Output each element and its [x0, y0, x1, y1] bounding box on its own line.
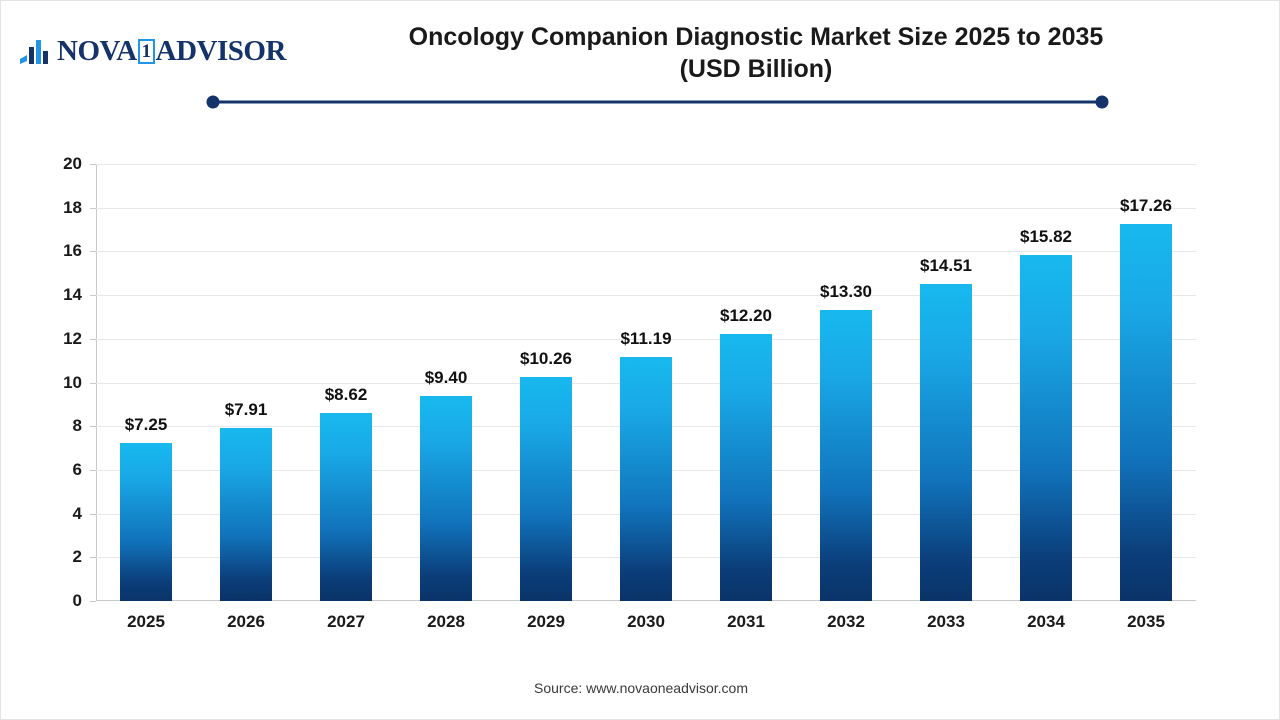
bar-group[interactable]: $17.262035	[1096, 164, 1196, 601]
bar-value-label: $13.30	[820, 282, 872, 302]
y-axis-tick-mark	[90, 601, 96, 602]
bar-value-label: $11.19	[620, 329, 671, 349]
x-axis-tick-label: 2033	[927, 612, 965, 632]
y-axis-tick-label: 18	[42, 198, 82, 218]
y-axis-tick-label: 12	[42, 329, 82, 349]
x-axis-tick-label: 2028	[427, 612, 465, 632]
y-axis-tick-label: 20	[42, 154, 82, 174]
bar-group[interactable]: $15.822034	[996, 164, 1096, 601]
y-axis-tick-label: 2	[42, 547, 82, 567]
x-axis-tick-label: 2025	[127, 612, 165, 632]
source-caption: Source: www.novaoneadvisor.com	[1, 680, 1280, 696]
bar[interactable]	[220, 428, 272, 601]
chart-title-line1: Oncology Companion Diagnostic Market Siz…	[409, 23, 1104, 51]
chart-title: Oncology Companion Diagnostic Market Siz…	[241, 21, 1271, 85]
x-axis-tick-label: 2035	[1127, 612, 1165, 632]
bar[interactable]	[1120, 224, 1172, 601]
bar-value-label: $17.26	[1120, 196, 1172, 216]
bar-value-label: $8.62	[325, 385, 368, 405]
bar[interactable]	[620, 357, 672, 602]
bar-group[interactable]: $8.622027	[296, 164, 396, 601]
bar-value-label: $9.40	[425, 368, 468, 388]
title-underline-rule	[206, 95, 1109, 109]
x-axis-tick-label: 2030	[627, 612, 665, 632]
y-axis-tick-label: 0	[42, 591, 82, 611]
y-axis-tick-label: 6	[42, 460, 82, 480]
bar[interactable]	[920, 284, 972, 601]
x-axis-tick-label: 2029	[527, 612, 565, 632]
bar[interactable]	[120, 443, 172, 601]
chart-title-line2: (USD Billion)	[241, 53, 1271, 85]
x-axis-tick-label: 2034	[1027, 612, 1065, 632]
y-axis-tick-label: 8	[42, 416, 82, 436]
y-axis-tick-label: 16	[42, 241, 82, 261]
bar-group[interactable]: $7.252025	[96, 164, 196, 601]
x-axis-tick-label: 2026	[227, 612, 265, 632]
bar[interactable]	[520, 377, 572, 601]
bar-value-label: $7.91	[225, 400, 268, 420]
bar-group[interactable]: $7.912026	[196, 164, 296, 601]
bar-group[interactable]: $9.402028	[396, 164, 496, 601]
bar[interactable]	[820, 310, 872, 601]
bar[interactable]	[720, 334, 772, 601]
y-axis-tick-label: 10	[42, 373, 82, 393]
bar-group[interactable]: $10.262029	[496, 164, 596, 601]
bar-value-label: $7.25	[125, 415, 168, 435]
bar-group[interactable]: $14.512033	[896, 164, 996, 601]
chart-page: NOVA1ADVISOR Oncology Companion Diagnost…	[0, 0, 1280, 720]
bar-value-label: $14.51	[920, 256, 972, 276]
bar[interactable]	[420, 396, 472, 601]
bar[interactable]	[320, 413, 372, 601]
plot-area: 02468101214161820 $7.252025$7.912026$8.6…	[96, 164, 1196, 601]
x-axis-tick-label: 2031	[727, 612, 765, 632]
bar-group[interactable]: $11.192030	[596, 164, 696, 601]
bar[interactable]	[1020, 255, 1072, 601]
y-axis-tick-label: 4	[42, 504, 82, 524]
x-axis-tick-label: 2027	[327, 612, 365, 632]
bar-chart-logo-icon	[19, 37, 53, 67]
x-axis-tick-label: 2032	[827, 612, 865, 632]
bar-value-label: $12.20	[720, 306, 772, 326]
bar-group[interactable]: $12.202031	[696, 164, 796, 601]
bar-value-label: $10.26	[520, 349, 572, 369]
brand-badge-one: 1	[138, 39, 155, 64]
bar-value-label: $15.82	[1020, 227, 1072, 247]
bar-group[interactable]: $13.302032	[796, 164, 896, 601]
brand-name-first: NOVA	[57, 35, 137, 67]
bar-series: $7.252025$7.912026$8.622027$9.402028$10.…	[96, 164, 1196, 601]
y-axis-tick-label: 14	[42, 285, 82, 305]
